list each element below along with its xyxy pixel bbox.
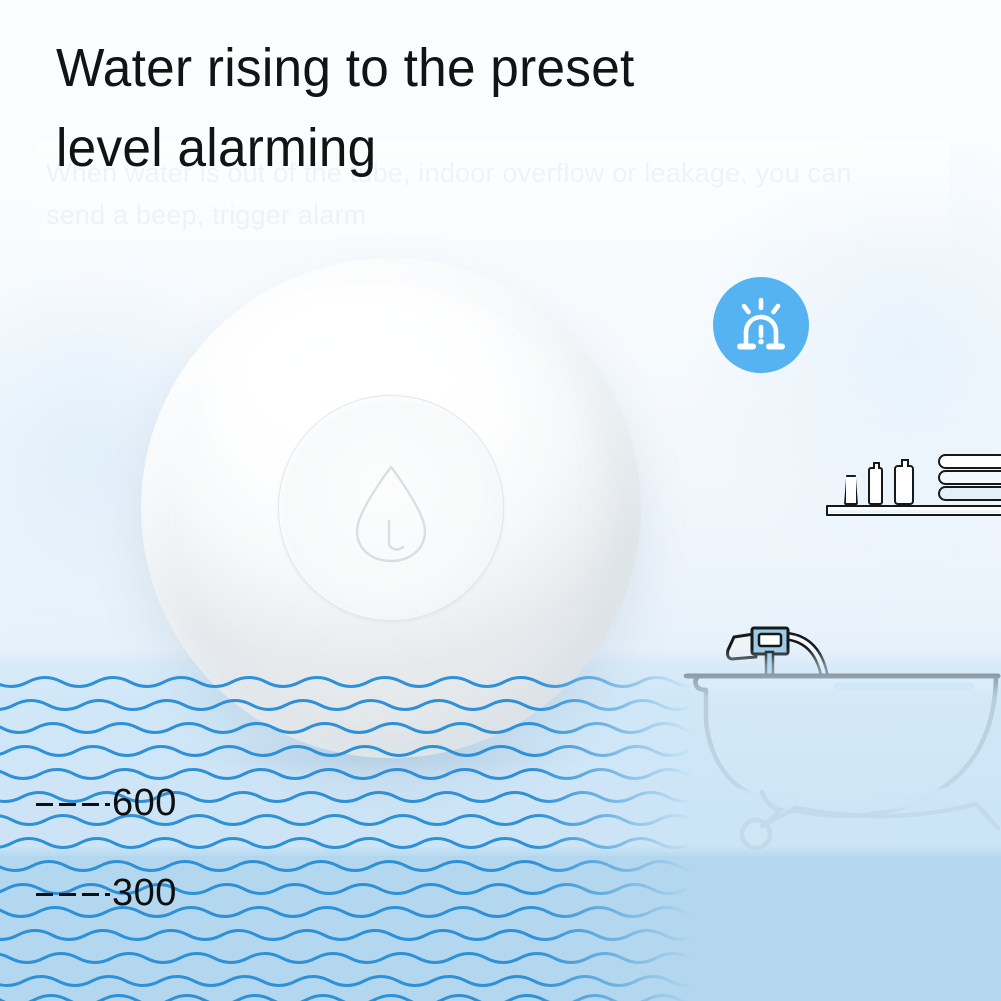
shelf-board [826, 505, 1001, 516]
water-drop-icon [349, 461, 433, 565]
alarm-siren-icon [713, 277, 809, 373]
tube-bottle-icon [844, 475, 858, 505]
product-feature-image: When water is out of the tube, indoor ov… [0, 0, 1001, 1001]
towel-icon [938, 454, 1001, 469]
towel-icon [938, 470, 1001, 485]
alarm-badge[interactable] [713, 277, 809, 373]
marker-dash-line [36, 803, 110, 806]
wave-svg [0, 660, 700, 1001]
water-level-marker-300: 300 [36, 874, 177, 912]
water-wave-lines [0, 660, 700, 1001]
device-center-button[interactable] [278, 395, 504, 621]
marker-label: 300 [112, 874, 177, 912]
towel-icon [938, 486, 1001, 501]
wide-bottle-icon [894, 465, 914, 505]
marker-dash-line [36, 893, 110, 896]
marker-label: 600 [112, 784, 177, 822]
water-level-marker-600: 600 [36, 784, 177, 822]
thin-bottle-icon [868, 467, 883, 505]
bathroom-shelf [826, 446, 1001, 516]
